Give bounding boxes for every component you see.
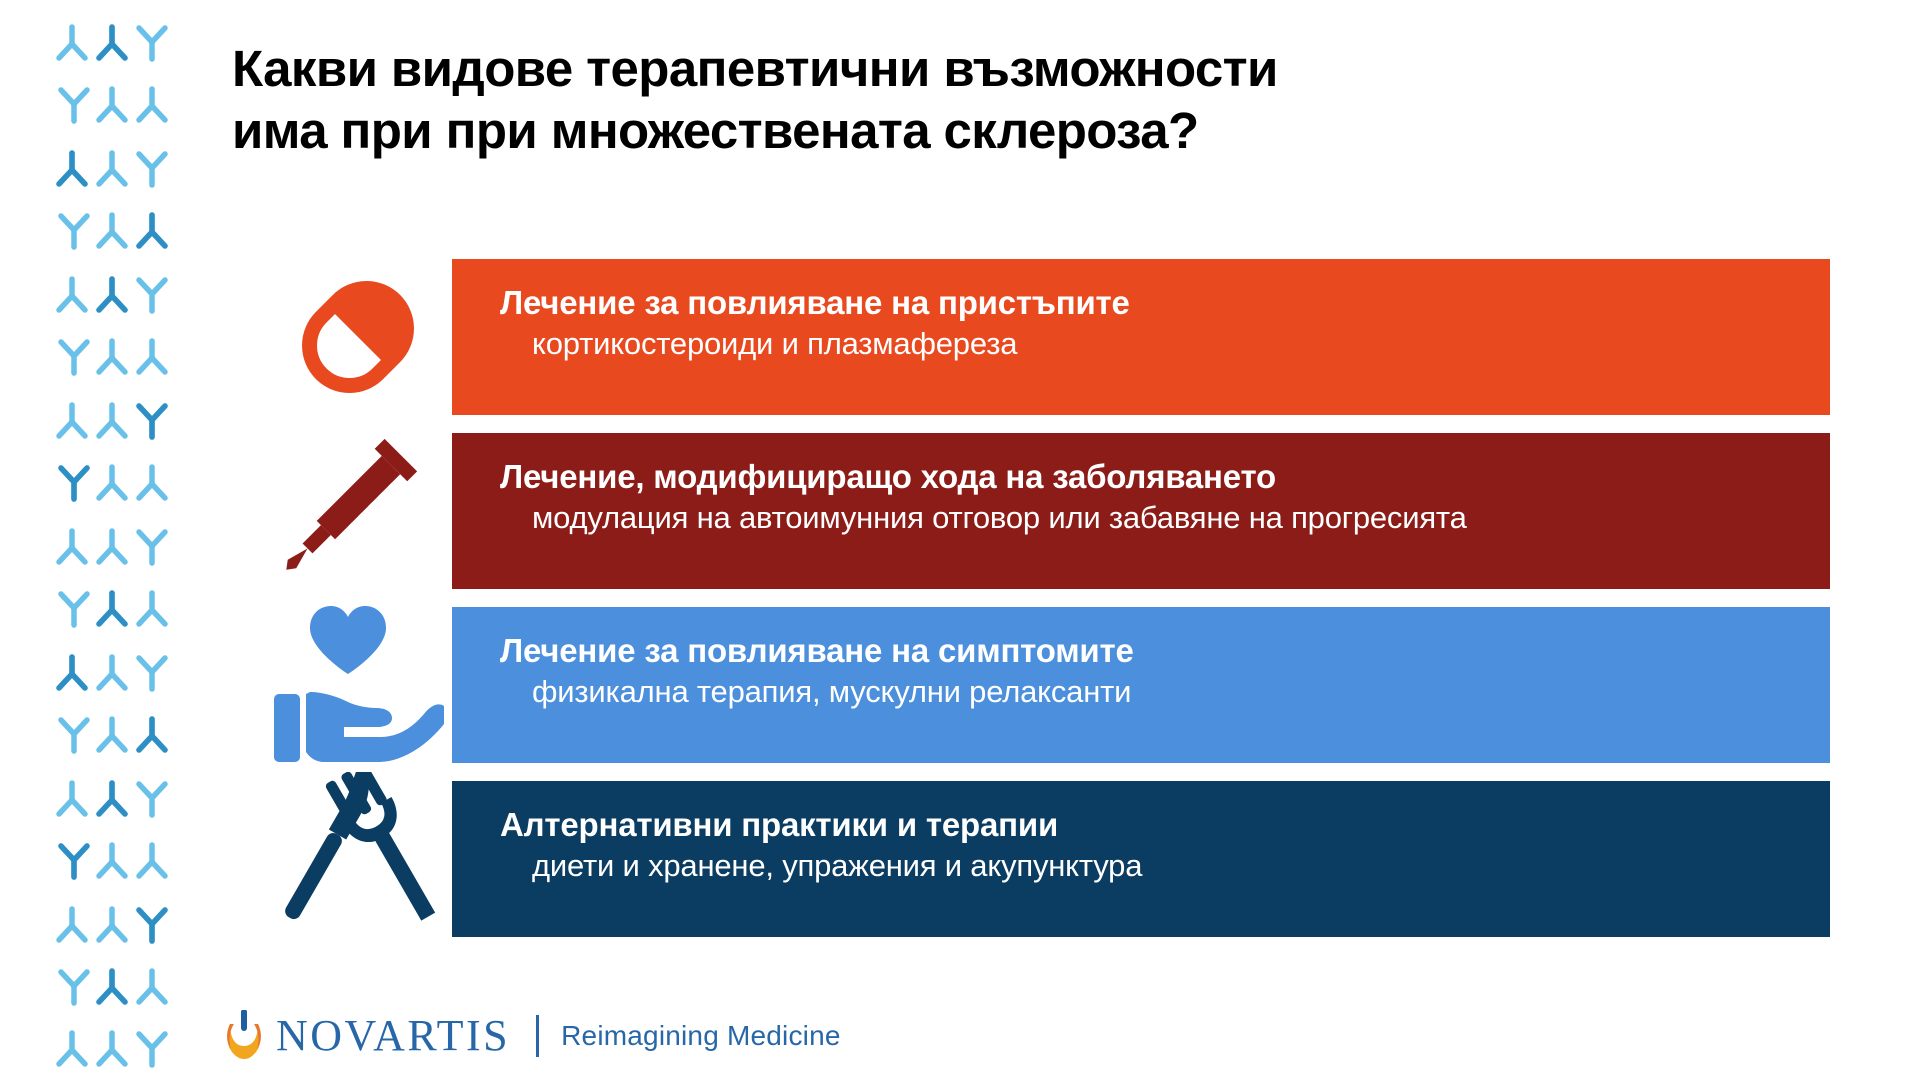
page-title: Какви видове терапевтични възможности им…	[232, 38, 1832, 162]
bar-text: Алтернативни практики и терапии диети и …	[500, 804, 1800, 886]
page-title-line-1: Какви видове терапевтични възможности	[232, 38, 1832, 100]
therapy-options-list: Лечение за повлияване на пристъпите корт…	[0, 250, 1920, 946]
bar-title: Лечение за повлияване на пристъпите	[500, 282, 1800, 324]
pill-capsule-icon	[258, 250, 458, 424]
novartis-wordmark: NOVARTIS	[276, 1014, 510, 1058]
bar-text: Лечение за повлияване на пристъпите корт…	[500, 282, 1800, 364]
novartis-flame-icon	[222, 1010, 266, 1062]
bar-text: Лечение, модифициращо хода на заболяване…	[500, 456, 1800, 538]
page-title-line-2: има при при множествената склероза?	[232, 100, 1832, 162]
therapy-item-relapse-treatment[interactable]: Лечение за повлияване на пристъпите корт…	[0, 250, 1920, 424]
bar-title: Лечение за повлияване на симптомите	[500, 630, 1800, 672]
bar-text: Лечение за повлияване на симптомите физи…	[500, 630, 1800, 712]
logo-divider	[536, 1015, 539, 1057]
bar-subtitle: кортикостероиди и плазмафереза	[500, 324, 1800, 364]
bar-subtitle: физикална терапия, мускулни релаксанти	[500, 672, 1800, 712]
bar-subtitle: модулация на автоимунния отговор или заб…	[500, 498, 1800, 538]
slide-root: Какви видове терапевтични възможности им…	[0, 0, 1920, 1080]
therapy-item-alternative-practices[interactable]: Алтернативни практики и терапии диети и …	[0, 772, 1920, 946]
novartis-logo: NOVARTIS Reimagining Medicine	[222, 1010, 841, 1062]
fork-and-knife-icon	[258, 772, 458, 946]
syringe-icon	[240, 424, 450, 598]
heart-in-hand-icon	[244, 598, 454, 772]
therapy-item-disease-modifying-treatment[interactable]: Лечение, модифициращо хода на заболяване…	[0, 424, 1920, 598]
bar-title: Алтернативни практики и терапии	[500, 804, 1800, 846]
bar-title: Лечение, модифициращо хода на заболяване…	[500, 456, 1800, 498]
bar-subtitle: диети и хранене, упражения и акупунктура	[500, 846, 1800, 886]
therapy-item-symptomatic-treatment[interactable]: Лечение за повлияване на симптомите физи…	[0, 598, 1920, 772]
novartis-tagline: Reimagining Medicine	[561, 1020, 840, 1052]
